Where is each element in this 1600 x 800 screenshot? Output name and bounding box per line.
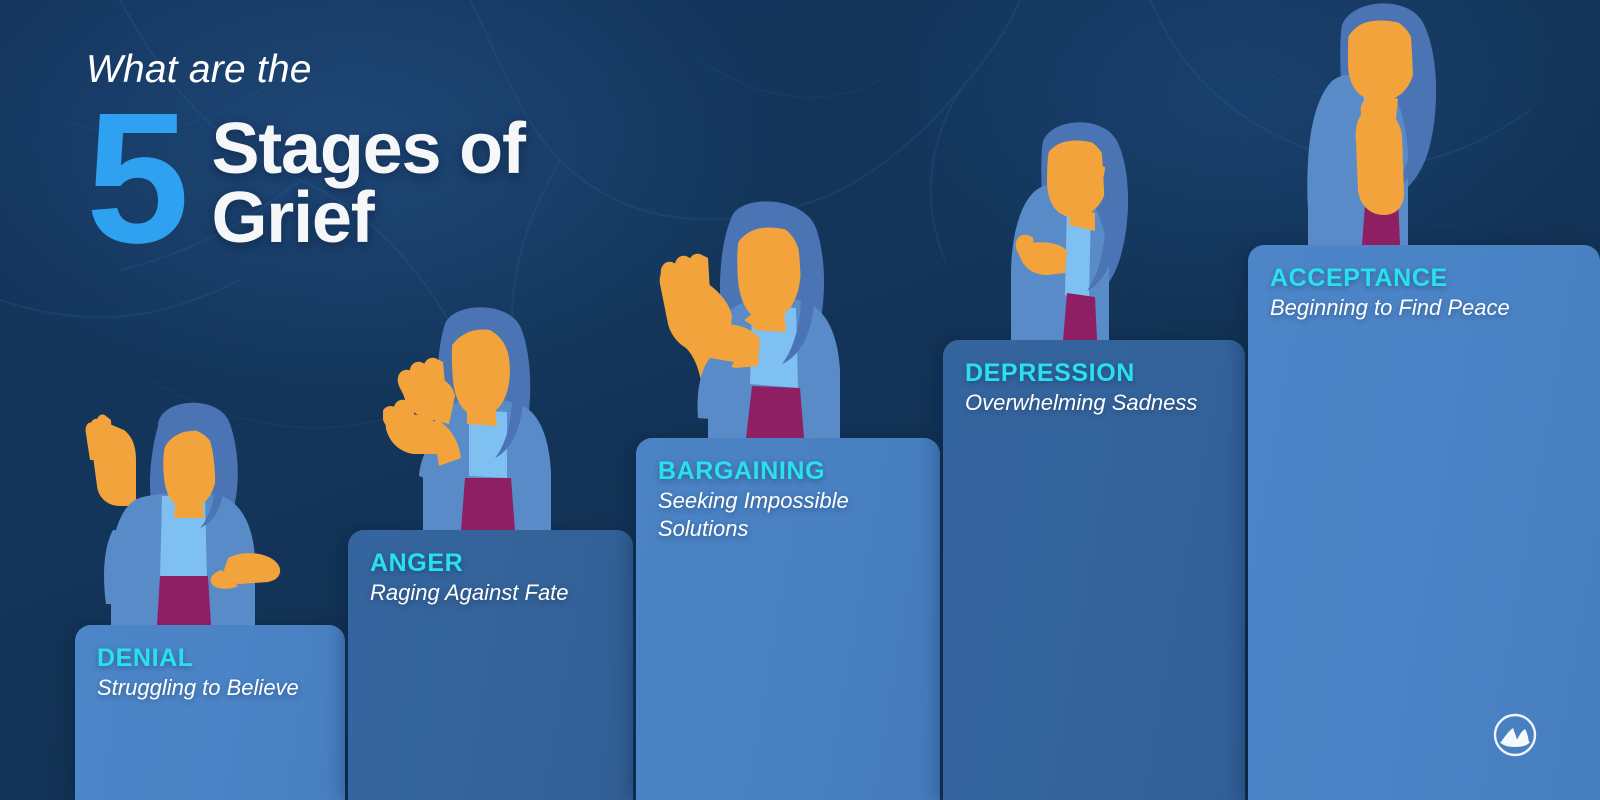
stage-text-anger: ANGER Raging Against Fate [370,550,619,607]
stage-name: DENIAL [97,645,331,671]
stage-description: Seeking Impossible Solutions [658,487,908,543]
stage-step-acceptance[interactable]: ACCEPTANCE Beginning to Find Peace [1248,245,1600,800]
stage-text-depression: DEPRESSION Overwhelming Sadness [965,360,1231,417]
infographic-canvas: What are the 5 Stages of Grief [0,0,1600,800]
title-line-2: Grief [211,184,524,253]
stage-name: DEPRESSION [965,360,1231,386]
stage-step-denial[interactable]: DENIAL Struggling to Believe [75,625,345,800]
stage-name: ANGER [370,550,619,576]
stage-step-bargaining[interactable]: BARGAINING Seeking Impossible Solutions [636,438,940,800]
title-block: What are the 5 Stages of Grief [86,50,786,254]
stage-step-depression[interactable]: DEPRESSION Overwhelming Sadness [943,340,1245,800]
stage-step-anger[interactable]: ANGER Raging Against Fate [348,530,633,800]
stage-description: Raging Against Fate [370,579,619,607]
stage-figure-depression [991,115,1141,340]
stage-text-bargaining: BARGAINING Seeking Impossible Solutions [658,458,926,544]
stage-text-denial: DENIAL Struggling to Believe [97,645,331,702]
stage-name: BARGAINING [658,458,926,484]
page-title: Stages of Grief [211,115,524,253]
stage-description: Beginning to Find Peace [1270,294,1520,322]
stage-name: ACCEPTANCE [1270,265,1586,291]
title-line-1: Stages of [211,115,524,184]
stage-description: Overwhelming Sadness [965,389,1215,417]
stage-figure-denial [80,390,295,625]
title-number: 5 [86,105,185,254]
stage-description: Struggling to Believe [97,674,331,702]
stage-figure-anger [383,300,578,530]
stage-figure-acceptance [1298,0,1448,245]
stage-bar [1248,245,1600,800]
title-kicker: What are the [86,50,786,89]
stage-text-acceptance: ACCEPTANCE Beginning to Find Peace [1270,265,1586,322]
circle-mountains-logo[interactable] [1492,712,1538,758]
